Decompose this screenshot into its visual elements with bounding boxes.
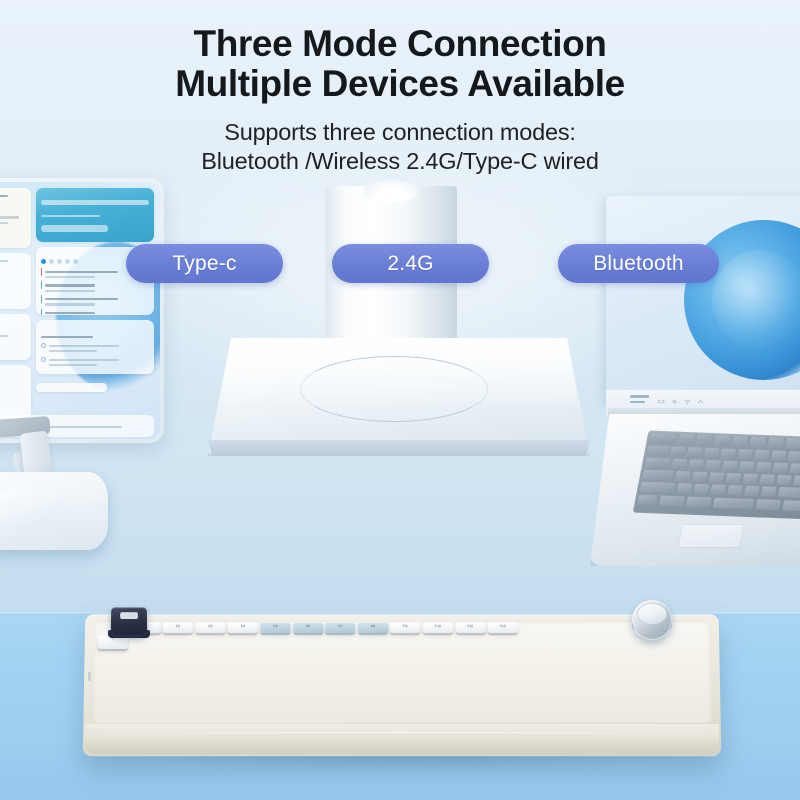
keycap-f12[interactable]: F12 [488,622,518,633]
keycap-f5[interactable]: F5 [260,622,290,633]
widget-add-button[interactable] [36,383,107,392]
keycap-label: F8 [358,624,388,628]
keycap-f7[interactable]: F7 [325,622,355,633]
keycap-label: F3 [195,624,225,628]
laptop-keyboard[interactable] [633,431,800,520]
rotary-volume-knob[interactable] [632,600,672,640]
taskbar-icon-group [658,398,704,405]
esc-artisan-keycap[interactable] [111,607,147,635]
keycap-f4[interactable]: F4 [228,622,258,633]
taskbar-text-block [630,395,649,403]
subheadline-line-2: Bluetooth /Wireless 2.4G/Type-C wired [0,147,800,176]
tablet-device [0,178,164,443]
keyboard-front-highlight [103,732,697,733]
keycap-label: F10 [423,624,453,628]
monitor-stand-base-arc [300,356,488,422]
subheadline-line-1: Supports three connection modes: [0,118,800,147]
keycap-label: F2 [163,624,193,628]
widget-card [0,188,31,248]
keycap-f6[interactable]: F6 [293,622,323,633]
laptop-trackpad[interactable] [678,524,745,548]
widget-card-todo [36,320,154,374]
brightness-icon[interactable] [671,398,678,405]
keycap-label: F7 [325,624,355,628]
keycap-label: F11 [455,624,485,628]
battery-icon[interactable] [658,398,665,405]
page-subtitle: Supports three connection modes: Bluetoo… [0,118,800,176]
keyboard-front-bezel [85,724,720,754]
tablet-widgets-panel [0,188,154,435]
laptop-screen [606,196,800,404]
keyboard-side-indicator [88,672,91,681]
tablet-screen [0,182,160,439]
keycap-f11[interactable]: F11 [455,622,485,633]
widget-card [0,314,31,360]
badge-bluetooth[interactable]: Bluetooth [558,244,719,283]
headline-line-2: Multiple Devices Available [0,64,800,104]
tablet-stand-base [0,472,108,550]
connection-mode-badges: Type-c 2.4G Bluetooth [0,244,800,286]
keycap-label: F4 [228,624,258,628]
keycap-f10[interactable]: F10 [423,622,453,633]
widget-card-photo [36,188,154,242]
keycap-f9[interactable]: F9 [390,622,420,633]
keycap-label: F6 [293,624,323,628]
monitor-stand-base-front [208,440,590,456]
keycap-f2[interactable]: F2 [163,622,193,633]
keycap-f3[interactable]: F3 [195,622,225,633]
page-title: Three Mode Connection Multiple Devices A… [0,24,800,104]
chevron-up-icon[interactable] [697,398,704,405]
keycap-label: F5 [260,624,290,628]
badge-type-c[interactable]: Type-c [126,244,283,283]
tablet-stand-arm [19,430,52,477]
wifi-icon[interactable] [684,398,691,405]
keycap-f8[interactable]: F8 [358,622,388,633]
keyboard-plate: F1F2F3F4F5F6F7F8F9F10F11F12~` [92,620,711,723]
headline-line-1: Three Mode Connection [0,24,800,64]
keycap-label: F9 [390,624,420,628]
product-marketing-scene: Type-c 2.4G Bluetooth Three Mode Connect… [0,0,800,800]
mechanical-keyboard[interactable]: F1F2F3F4F5F6F7F8F9F10F11F12~` [83,614,722,756]
badge-2-4g[interactable]: 2.4G [332,244,489,283]
keycap-label: F12 [488,624,518,628]
